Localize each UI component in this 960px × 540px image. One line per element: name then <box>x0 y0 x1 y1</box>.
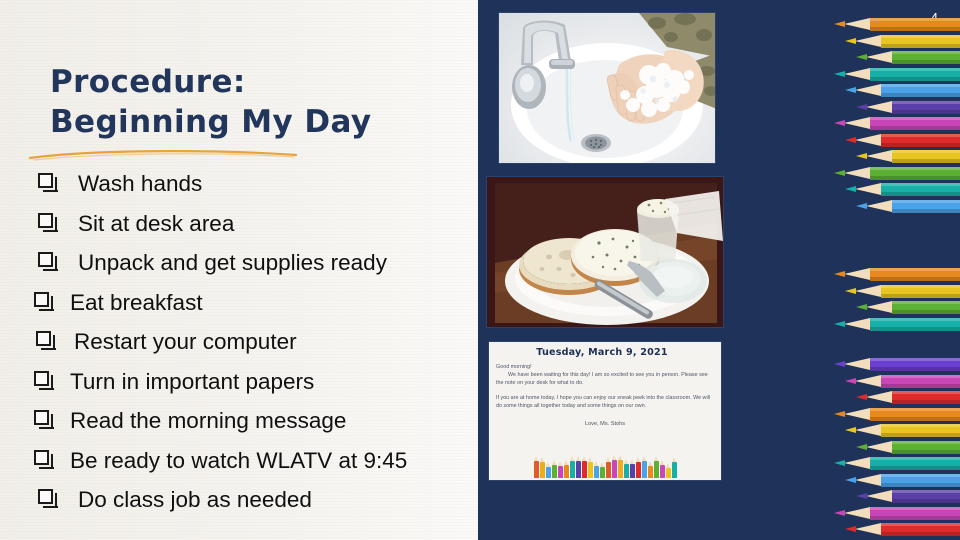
pencil-icon <box>830 424 960 437</box>
pencil-icon <box>642 461 647 478</box>
pencil-icon <box>830 523 960 536</box>
pencil-icon <box>830 318 960 331</box>
bagel-illustration <box>487 177 724 328</box>
checklist-item[interactable]: Eat breakfast <box>12 285 478 322</box>
pencil-icon <box>830 301 960 314</box>
page-title-line-1: Procedure: <box>50 62 450 102</box>
pencil-icon <box>600 467 605 478</box>
pencil-icon <box>558 466 563 478</box>
pencil-icon <box>576 461 581 478</box>
pencil-icon <box>624 464 629 478</box>
pencil-icon <box>672 462 677 478</box>
pencil-icon <box>830 358 960 371</box>
pencil-icon <box>830 408 960 421</box>
morning-message-greeting: Good morning! <box>496 364 714 372</box>
pencil-icon <box>588 462 593 478</box>
checklist-item-label: Be ready to watch WLATV at 9:45 <box>70 443 478 480</box>
checkbox-cell[interactable] <box>12 364 70 386</box>
pencil-icon <box>830 375 960 388</box>
checkbox-icon[interactable] <box>36 331 51 346</box>
breakfast-photo <box>486 176 724 328</box>
pencil-icon <box>830 167 960 180</box>
title-underline-swoosh <box>28 148 298 162</box>
checkbox-icon[interactable] <box>34 371 49 386</box>
pencil-icon <box>830 51 960 64</box>
checklist-item-label: Restart your computer <box>74 324 478 361</box>
morning-message-paragraph-1: We have been waiting for this day! I am … <box>496 372 714 387</box>
pencil-icon <box>830 117 960 130</box>
pencil-icon <box>540 462 545 478</box>
pencil-border-bottom <box>830 358 960 540</box>
checklist-item[interactable]: Be ready to watch WLATV at 9:45 <box>12 443 478 480</box>
pencil-icon <box>648 466 653 478</box>
pencil-icon <box>830 134 960 147</box>
checkbox-cell[interactable] <box>12 443 70 465</box>
pencil-icon <box>830 457 960 470</box>
morning-message-date: Tuesday, March 9, 2021 <box>489 347 715 358</box>
pencil-icon <box>666 468 671 478</box>
procedure-checklist: Wash handsSit at desk areaUnpack and get… <box>12 166 478 522</box>
pencil-icon <box>612 460 617 478</box>
checkbox-cell[interactable] <box>12 324 74 346</box>
pencil-icon <box>630 464 635 478</box>
checklist-item[interactable]: Read the morning message <box>12 403 478 440</box>
page-title: Procedure: Beginning My Day <box>50 62 450 142</box>
left-content-panel: Procedure: Beginning My Day Wash handsSi… <box>0 0 478 540</box>
morning-message-pencil-border <box>497 450 713 478</box>
pencil-icon <box>830 474 960 487</box>
checklist-item[interactable]: Wash hands <box>12 166 478 203</box>
checklist-item-label: Do class job as needed <box>78 482 478 519</box>
pencil-icon <box>534 461 539 478</box>
checkbox-cell[interactable] <box>12 166 78 188</box>
pencil-border-top <box>830 18 960 216</box>
pencil-icon <box>552 465 557 478</box>
pencil-icon <box>830 183 960 196</box>
checkbox-cell[interactable] <box>12 403 70 425</box>
pencil-icon <box>830 268 960 281</box>
morning-message-signoff: Love, Ms. Stohs <box>496 421 714 429</box>
morning-message-paragraph-2: If you are at home today, I hope you can… <box>496 395 714 410</box>
pencil-icon <box>606 462 611 478</box>
pencil-icon <box>636 462 641 478</box>
checklist-item[interactable]: Restart your computer <box>12 324 478 361</box>
checkbox-cell[interactable] <box>12 285 70 307</box>
pencil-icon <box>564 465 569 478</box>
checklist-item[interactable]: Do class job as needed <box>12 482 478 519</box>
checkbox-icon[interactable] <box>38 173 53 188</box>
pencil-icon <box>830 391 960 404</box>
pencil-icon <box>830 441 960 454</box>
slide-canvas: Procedure: Beginning My Day Wash handsSi… <box>0 0 960 540</box>
checklist-item-label: Eat breakfast <box>70 285 478 322</box>
checkbox-icon[interactable] <box>34 410 49 425</box>
checkbox-icon[interactable] <box>34 292 49 307</box>
checklist-item[interactable]: Unpack and get supplies ready <box>12 245 478 282</box>
checkbox-icon[interactable] <box>38 489 53 504</box>
pencil-icon <box>830 84 960 97</box>
pencil-icon <box>618 460 623 478</box>
pencil-icon <box>570 461 575 478</box>
checklist-item-label: Read the morning message <box>70 403 478 440</box>
pencil-icon <box>830 150 960 163</box>
pencil-icon <box>582 461 587 478</box>
pencil-icon <box>830 200 960 213</box>
checklist-item[interactable]: Sit at desk area <box>12 206 478 243</box>
checklist-item-label: Unpack and get supplies ready <box>78 245 478 282</box>
pencil-icon <box>594 466 599 478</box>
checklist-item[interactable]: Turn in important papers <box>12 364 478 401</box>
checkbox-icon[interactable] <box>34 450 49 465</box>
pencil-icon <box>830 285 960 298</box>
pencil-icon <box>830 68 960 81</box>
page-title-line-2: Beginning My Day <box>50 102 450 142</box>
pencil-icon <box>830 507 960 520</box>
checkbox-cell[interactable] <box>12 206 78 228</box>
morning-message-image: Tuesday, March 9, 2021 Good morning! We … <box>488 341 722 481</box>
handwashing-illustration <box>499 13 716 164</box>
checkbox-cell[interactable] <box>12 245 78 267</box>
pencil-icon <box>830 18 960 31</box>
handwashing-photo <box>498 12 716 164</box>
checklist-item-label: Wash hands <box>78 166 478 203</box>
checklist-item-label: Sit at desk area <box>78 206 478 243</box>
pencil-icon <box>830 101 960 114</box>
pencil-icon <box>546 467 551 478</box>
pencil-icon <box>654 461 659 478</box>
pencil-icon <box>830 490 960 503</box>
right-media-panel: 4 <box>478 0 960 540</box>
checkbox-icon[interactable] <box>38 213 53 228</box>
pencil-icon <box>830 35 960 48</box>
checklist-item-label: Turn in important papers <box>70 364 478 401</box>
checkbox-icon[interactable] <box>38 252 53 267</box>
pencil-border-middle <box>830 268 960 334</box>
checkbox-cell[interactable] <box>12 482 78 504</box>
pencil-icon <box>660 465 665 478</box>
